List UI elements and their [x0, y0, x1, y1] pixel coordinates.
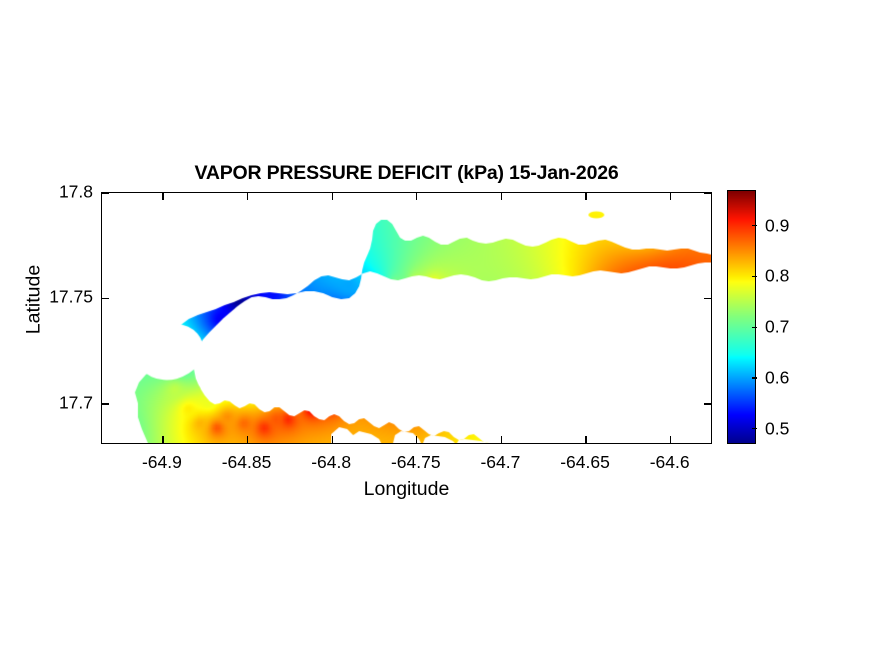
y-tick-mark-right: [704, 192, 711, 193]
x-tick-mark-top: [670, 193, 671, 200]
colorbar-tick-label: 0.5: [765, 418, 789, 439]
y-tick-mark: [102, 403, 109, 404]
x-tick-mark: [162, 436, 163, 443]
chart-title: VAPOR PRESSURE DEFICIT (kPa) 15-Jan-2026: [101, 162, 712, 185]
y-tick-mark: [102, 192, 109, 193]
colorbar-tick-mark: [752, 428, 757, 429]
colorbar-tick-mark: [752, 276, 757, 277]
x-tick-mark-top: [162, 193, 163, 200]
colorbar-tick-mark: [752, 377, 757, 378]
y-tick-label: 17.8: [5, 182, 93, 203]
x-tick-label: -64.6: [650, 452, 690, 473]
x-tick-label: -64.85: [222, 452, 272, 473]
x-tick-label: -64.75: [391, 452, 441, 473]
x-tick-label: -64.8: [311, 452, 351, 473]
x-tick-mark: [670, 436, 671, 443]
colorbar-tick-mark: [752, 225, 757, 226]
y-tick-mark-right: [704, 298, 711, 299]
y-tick-label: 17.75: [5, 287, 93, 308]
colorbar-tick-label: 0.8: [765, 266, 789, 287]
y-tick-label: 17.7: [5, 392, 93, 413]
x-tick-mark-top: [332, 193, 333, 200]
y-tick-mark: [102, 298, 109, 299]
x-tick-mark: [585, 436, 586, 443]
x-tick-mark-top: [416, 193, 417, 200]
x-tick-mark: [332, 436, 333, 443]
x-tick-mark: [247, 436, 248, 443]
colorbar-gradient: [727, 190, 756, 444]
y-axis-label: Latitude: [23, 240, 46, 360]
x-axis-label: Longitude: [101, 478, 712, 501]
colorbar: 0.90.80.70.60.5: [727, 190, 756, 444]
y-tick-mark-right: [704, 403, 711, 404]
x-tick-mark-top: [247, 193, 248, 200]
plot-axes: [101, 192, 712, 444]
x-tick-mark: [416, 436, 417, 443]
x-tick-label: -64.7: [480, 452, 520, 473]
colorbar-tick-label: 0.6: [765, 367, 789, 388]
x-tick-mark-top: [501, 193, 502, 200]
colorbar-tick-label: 0.7: [765, 317, 789, 338]
x-tick-mark-top: [585, 193, 586, 200]
x-tick-label: -64.9: [142, 452, 182, 473]
x-tick-label: -64.65: [560, 452, 610, 473]
x-tick-mark: [501, 436, 502, 443]
colorbar-tick-mark: [752, 327, 757, 328]
vpd-heatmap-canvas: [102, 193, 711, 443]
figure-canvas: VAPOR PRESSURE DEFICIT (kPa) 15-Jan-2026…: [0, 0, 875, 656]
colorbar-tick-label: 0.9: [765, 215, 789, 236]
